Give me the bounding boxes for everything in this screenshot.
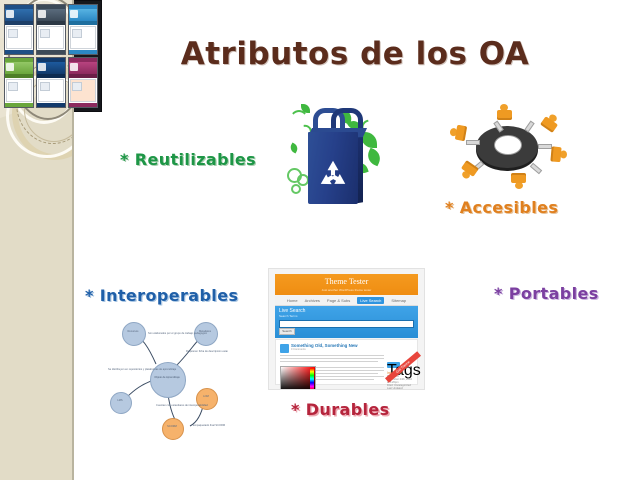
site-search-sublabel: Search Terms	[275, 314, 418, 318]
person-figure	[457, 159, 481, 183]
skin-header	[5, 9, 33, 21]
text-placeholder-line	[316, 370, 384, 371]
text-placeholder-line	[316, 373, 378, 374]
person-figure	[510, 172, 527, 189]
skin-variant	[36, 57, 66, 108]
text-placeholder-line	[316, 376, 384, 377]
mindmap-node-label: SCORM	[162, 425, 182, 429]
skin-avatar-icon	[38, 10, 46, 18]
attribute-label-interoperables: * Interoperables	[85, 286, 238, 305]
skin-header	[69, 9, 97, 21]
reusable-bag-image	[285, 98, 385, 216]
skin-body	[6, 79, 32, 102]
post-meta: 0 Comments	[291, 348, 306, 351]
site-title: Theme Tester	[275, 274, 418, 288]
skin-header	[37, 9, 65, 21]
mindmap-node	[110, 392, 132, 414]
attribute-label-reutilizables: * Reutilizables	[120, 150, 256, 169]
site-search-input[interactable]	[279, 320, 414, 328]
skin-avatar-icon	[6, 63, 14, 71]
skin-variant	[68, 4, 98, 55]
leaf-icon	[365, 148, 384, 167]
site-search-panel: Live Search Search Terms Search	[275, 306, 418, 338]
mindmap-center-label: Objeto de Aprendizaje	[150, 376, 184, 380]
site-nav-pages[interactable]: Page & Subs	[327, 298, 350, 303]
skin-variant	[36, 4, 66, 55]
skin-header	[69, 62, 97, 74]
skin-footer	[69, 50, 97, 54]
mindmap-edge-label: Empaquetado final SCORM	[192, 424, 226, 428]
text-placeholder-line	[280, 355, 384, 356]
person-figure	[549, 145, 567, 163]
site-nav-live-search[interactable]: Live Search	[357, 297, 384, 304]
network-connector	[524, 121, 534, 133]
person-figure	[496, 104, 513, 121]
skin-toolbar	[69, 74, 97, 78]
skin-toolbar	[5, 21, 33, 25]
site-navbar[interactable]: Home Archives Page & Subs Live Search Si…	[275, 296, 418, 306]
person-figure	[539, 111, 563, 135]
site-nav-sitemap[interactable]: Sitemap	[391, 298, 406, 303]
skin-header	[37, 62, 65, 74]
skin-footer	[37, 50, 65, 54]
site-tagline: Just another WordPress theme tester	[275, 288, 418, 292]
presentation-slide: Atributos de los OA	[0, 0, 640, 480]
site-search-button[interactable]: Search	[279, 328, 295, 335]
site-content-area: Something Old, Something New 0 Comments …	[275, 339, 418, 385]
website-screenshot-image: Theme Tester Just another WordPress them…	[268, 268, 425, 390]
widget-line: Last Updated:	[387, 387, 413, 390]
skin-footer	[37, 103, 65, 107]
site-search-heading: Live Search	[275, 306, 418, 314]
person-body	[497, 110, 512, 120]
person-body	[455, 125, 467, 142]
skin-body	[70, 79, 96, 102]
skin-avatar-icon	[70, 10, 78, 18]
skin-toolbar	[37, 21, 65, 25]
network-connector	[466, 140, 480, 145]
skin-list-row	[40, 29, 50, 38]
mindmap-image: Objeto de Aprendizaje Recursos Metadatos…	[98, 312, 228, 442]
person-body	[511, 173, 526, 183]
site-nav-archives[interactable]: Archives	[305, 298, 320, 303]
skin-list-row	[8, 82, 18, 91]
accessibility-network-image	[438, 102, 578, 194]
skin-toolbar	[5, 74, 33, 78]
person-body	[550, 146, 561, 162]
mindmap-edge-label: Se distribuyen en repositorios y platafo…	[108, 368, 154, 372]
mindmap-node	[122, 322, 146, 346]
skin-footer	[69, 103, 97, 107]
skin-body	[6, 26, 32, 49]
mindmap-node-label: LOM	[196, 395, 216, 399]
network-connector	[530, 163, 542, 175]
skin-toolbar	[37, 74, 65, 78]
skin-list-row	[72, 82, 82, 91]
skin-variant	[4, 4, 34, 55]
mindmap-node-label: LMS	[110, 399, 130, 403]
skin-avatar-icon	[38, 63, 46, 71]
skin-toolbar	[69, 21, 97, 25]
attribute-label-durables: * Durables	[291, 400, 390, 419]
site-header: Theme Tester Just another WordPress them…	[275, 274, 418, 295]
skin-variant	[68, 57, 98, 108]
person-figure	[449, 123, 469, 143]
post-thumbnail-icon	[280, 344, 289, 353]
mindmap-edge-label: Son elaborados por el grupo de trabajo p…	[148, 332, 200, 336]
skin-body	[38, 79, 64, 102]
mindmap-edge-label: Requieren ficha de descripcion estandari…	[186, 350, 226, 354]
mindmap-node-label: Recursos	[122, 330, 144, 334]
person-head	[515, 182, 523, 189]
text-placeholder-line	[316, 367, 384, 368]
mindmap-edge-label: Cuentan con estandares de interoperabili…	[156, 404, 204, 408]
leaf-icon	[289, 143, 300, 154]
network-ring-hole	[494, 135, 522, 155]
attribute-label-accesibles: * Accesibles	[445, 198, 558, 217]
text-placeholder-line	[316, 379, 374, 380]
text-placeholder-line	[280, 361, 378, 362]
skin-footer	[5, 50, 33, 54]
skin-list-row	[40, 82, 50, 91]
skin-list-row	[72, 29, 82, 38]
skin-list-row	[8, 29, 18, 38]
skin-avatar-icon	[6, 10, 14, 18]
skin-avatar-icon	[70, 63, 78, 71]
text-placeholder-line	[280, 358, 384, 359]
hue-strip[interactable]	[310, 368, 314, 390]
attribute-label-portables: * Portables	[494, 284, 599, 303]
skin-variant	[4, 57, 34, 108]
skin-footer	[5, 103, 33, 107]
skin-header	[5, 62, 33, 74]
skin-body	[70, 26, 96, 49]
color-picker-widget[interactable]	[280, 366, 316, 390]
mindmap-node-orange	[162, 418, 184, 440]
skin-body	[38, 26, 64, 49]
site-nav-home[interactable]: Home	[287, 298, 298, 303]
bubble-icon	[291, 184, 301, 194]
recycle-icon	[316, 158, 350, 192]
page-title: Atributos de los OA	[90, 36, 620, 72]
